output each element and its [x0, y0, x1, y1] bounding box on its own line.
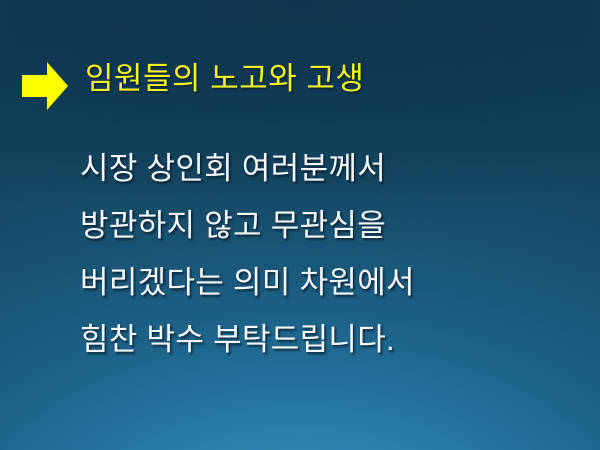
body-line: 방관하지 않고 무관심을 [80, 197, 560, 254]
body-line: 힘찬 박수 부탁드립니다. [80, 311, 560, 368]
body-line: 버리겠다는 의미 차원에서 [80, 254, 560, 311]
slide-title-row: 임원들의 노고와 고생 [0, 56, 600, 114]
page-title: 임원들의 노고와 고생 [85, 56, 364, 102]
body-line: 시장 상인회 여러분께서 [80, 140, 560, 197]
right-arrow-icon [22, 62, 68, 110]
presentation-slide: 임원들의 노고와 고생 시장 상인회 여러분께서 방관하지 않고 무관심을 버리… [0, 0, 600, 450]
slide-body: 시장 상인회 여러분께서 방관하지 않고 무관심을 버리겠다는 의미 차원에서 … [80, 140, 560, 368]
